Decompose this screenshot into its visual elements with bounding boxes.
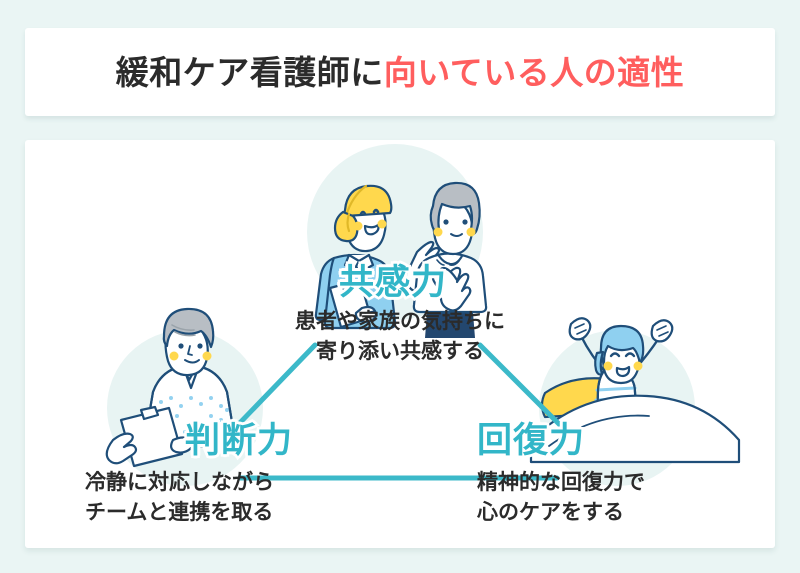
- title-card: 緩和ケア看護師に向いている人の適性: [25, 28, 775, 116]
- description-line: 精神的な回復力で: [477, 468, 645, 498]
- description-line: 心のケアをする: [477, 498, 645, 528]
- node-label-empathy: 共感力: [339, 265, 447, 300]
- description-line: 患者や家族の気持ちに: [295, 307, 505, 337]
- node-description-empathy: 患者や家族の気持ちに 寄り添い共感する: [295, 307, 505, 367]
- node-description-judgement: 冷静に対応しながら チームと連携を取る: [85, 468, 274, 528]
- diagram-card: 共感力 判断力 回復力 患者や家族の気持ちに 寄り添い共感する 冷静に対応しなが…: [25, 140, 775, 548]
- infographic-page: 緩和ケア看護師に向いている人の適性: [0, 0, 800, 573]
- page-title: 緩和ケア看護師に向いている人の適性: [116, 56, 685, 89]
- node-label-resilience: 回復力: [477, 423, 585, 458]
- node-description-resilience: 精神的な回復力で 心のケアをする: [477, 468, 645, 528]
- diagram-stage: 共感力 判断力 回復力 患者や家族の気持ちに 寄り添い共感する 冷静に対応しなが…: [25, 140, 775, 548]
- page-title-accent: 向いている人の適性: [384, 54, 685, 91]
- description-line: チームと連携を取る: [85, 498, 274, 528]
- description-line: 寄り添い共感する: [295, 337, 505, 367]
- description-line: 冷静に対応しながら: [85, 468, 274, 498]
- node-label-judgement: 判断力: [185, 423, 293, 458]
- page-title-plain: 緩和ケア看護師に: [116, 54, 384, 91]
